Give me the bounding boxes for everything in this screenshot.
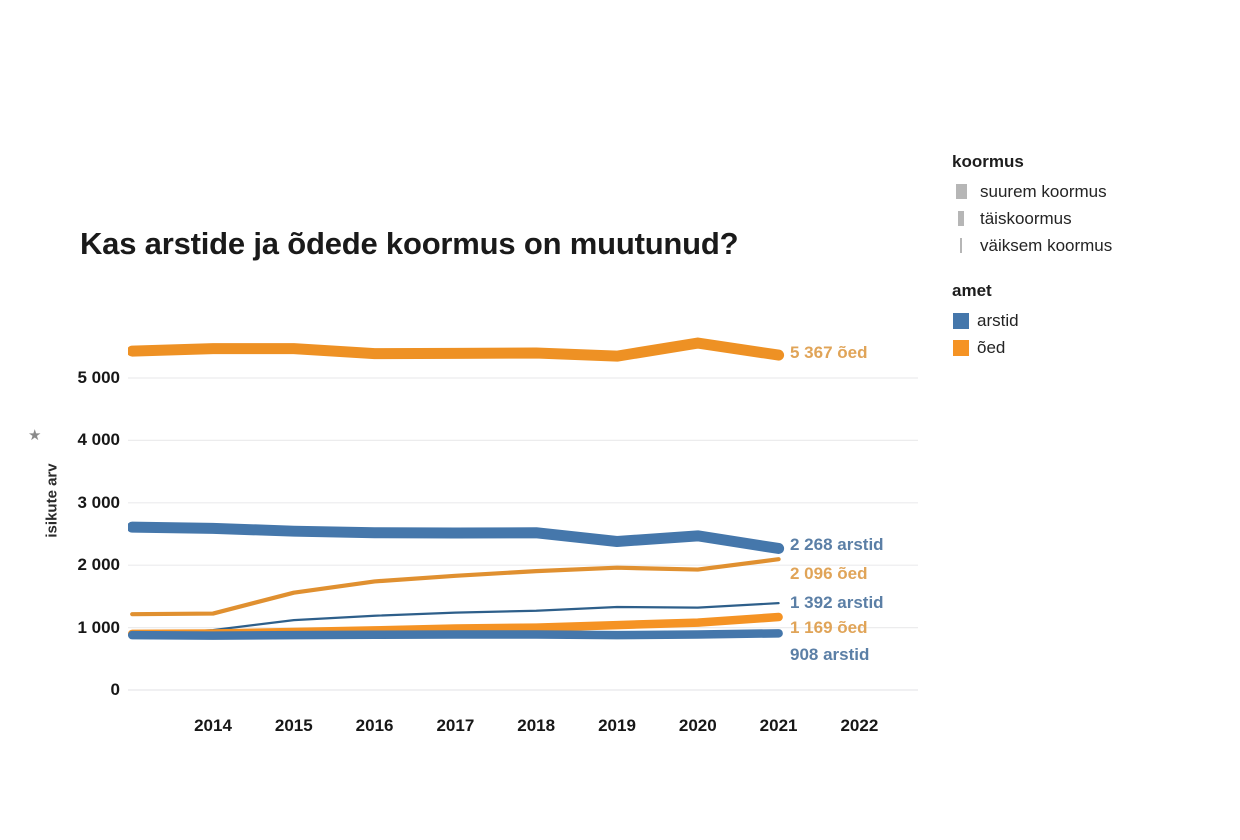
legend-width-bar [960, 238, 962, 253]
legend-width-swatch-icon [950, 211, 972, 226]
legend-color-swatch-icon [953, 340, 969, 356]
legend-item-label: suurem koormus [980, 182, 1107, 202]
legend-item[interactable]: suurem koormus [950, 178, 1230, 205]
legend-group-title: amet [950, 281, 1230, 301]
legend-item-label: arstid [977, 311, 1019, 331]
legend-width-swatch-icon [950, 238, 972, 253]
legend-item[interactable]: täiskoormus [950, 205, 1230, 232]
series-end-label: 5 367 õed [790, 343, 868, 363]
legend-item-label: väiksem koormus [980, 236, 1112, 256]
legend-item[interactable]: õed [950, 334, 1230, 361]
legend-item-label: täiskoormus [980, 209, 1072, 229]
series-end-label: 2 096 õed [790, 564, 868, 584]
legend-item-label: õed [977, 338, 1005, 358]
legend: koormussuurem koormustäiskoormusväiksem … [950, 152, 1230, 383]
legend-color-swatch-icon [953, 313, 969, 329]
chart-canvas: Kas arstide ja õdede koormus on muutunud… [0, 0, 1240, 840]
series-end-label: 908 arstid [790, 645, 869, 665]
series-end-label: 2 268 arstid [790, 535, 884, 555]
legend-group-amet: ametarstidõed [950, 281, 1230, 361]
legend-width-bar [956, 184, 967, 199]
legend-item[interactable]: väiksem koormus [950, 232, 1230, 259]
legend-item[interactable]: arstid [950, 307, 1230, 334]
legend-group-title: koormus [950, 152, 1230, 172]
legend-group-koormus: koormussuurem koormustäiskoormusväiksem … [950, 152, 1230, 259]
legend-width-swatch-icon [950, 184, 972, 199]
series-end-label: 1 392 arstid [790, 593, 884, 613]
series-end-labels: 5 367 õed2 268 arstid2 096 õed1 392 arst… [0, 0, 1000, 840]
series-end-label: 1 169 õed [790, 618, 868, 638]
legend-width-bar [958, 211, 964, 226]
